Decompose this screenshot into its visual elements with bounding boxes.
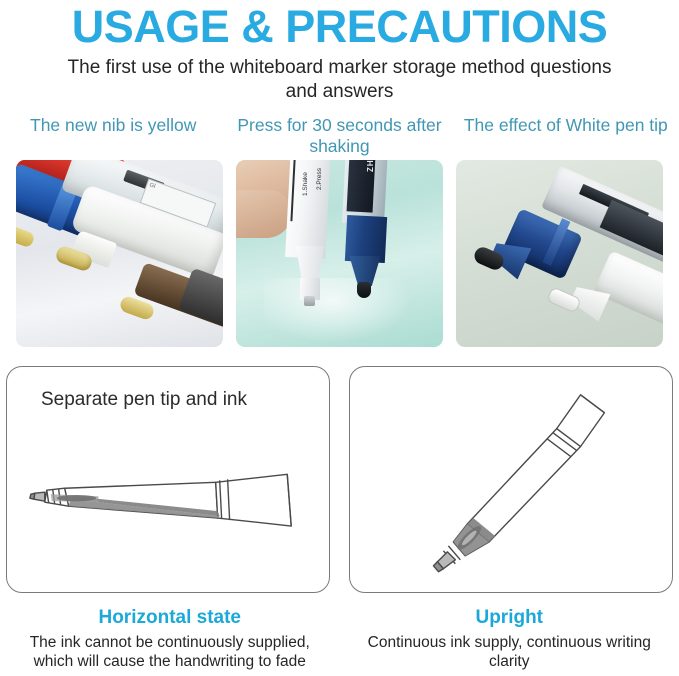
diagram-panel-horizontal: Separate pen tip and ink: [6, 366, 330, 593]
photo-caption-2: Press for 30 seconds after shaking: [226, 115, 452, 157]
photo-caption-1: The new nib is yellow: [0, 115, 226, 157]
bottom-column-upright: Upright Continuous ink supply, continuou…: [340, 606, 679, 671]
photo-captions-row: The new nib is yellow Press for 30 secon…: [0, 115, 679, 157]
horizontal-pen-drawing: [7, 367, 329, 593]
white-marker-tip: [304, 296, 315, 306]
photo-press-30-seconds: 1.Shake 2.Press ZHIDIAN: [236, 160, 443, 347]
bottom-heading-horizontal: Horizontal state: [0, 606, 340, 630]
shake-instruction-text: 1.Shake: [302, 172, 309, 196]
page-title: USAGE & PRECAUTIONS: [0, 2, 679, 52]
photo-white-pen-tip-effect: [456, 160, 663, 347]
bottom-captions-row: Horizontal state The ink cannot be conti…: [0, 606, 679, 671]
diagram-panel-upright: [349, 366, 673, 593]
header: USAGE & PRECAUTIONS The first use of the…: [0, 0, 679, 104]
bottom-column-horizontal: Horizontal state The ink cannot be conti…: [0, 606, 340, 671]
page-subtitle: The first use of the whiteboard marker s…: [60, 56, 620, 104]
photo2-surface-gloss: [264, 278, 414, 344]
bottom-description-upright: Continuous ink supply, continuous writin…: [359, 633, 659, 671]
press-instruction-text: 2.Press: [316, 168, 323, 190]
diagram-row: Separate pen tip and ink: [0, 366, 679, 594]
photo-yellow-nib: Gl: [16, 160, 223, 347]
upright-pen-drawing: [350, 367, 672, 593]
blue-marker-tip: [357, 282, 371, 298]
hand-finger: [236, 190, 292, 238]
bottom-heading-upright: Upright: [340, 606, 679, 630]
blue-marker-body: [345, 215, 387, 263]
bottom-description-horizontal: The ink cannot be continuously supplied,…: [20, 633, 320, 671]
photo-row: Gl 1.Shake 2.Press ZHIDIAN: [0, 160, 679, 347]
photo-caption-3: The effect of White pen tip: [453, 115, 679, 157]
blue-marker-brand-text: ZHIDIAN: [366, 160, 375, 172]
